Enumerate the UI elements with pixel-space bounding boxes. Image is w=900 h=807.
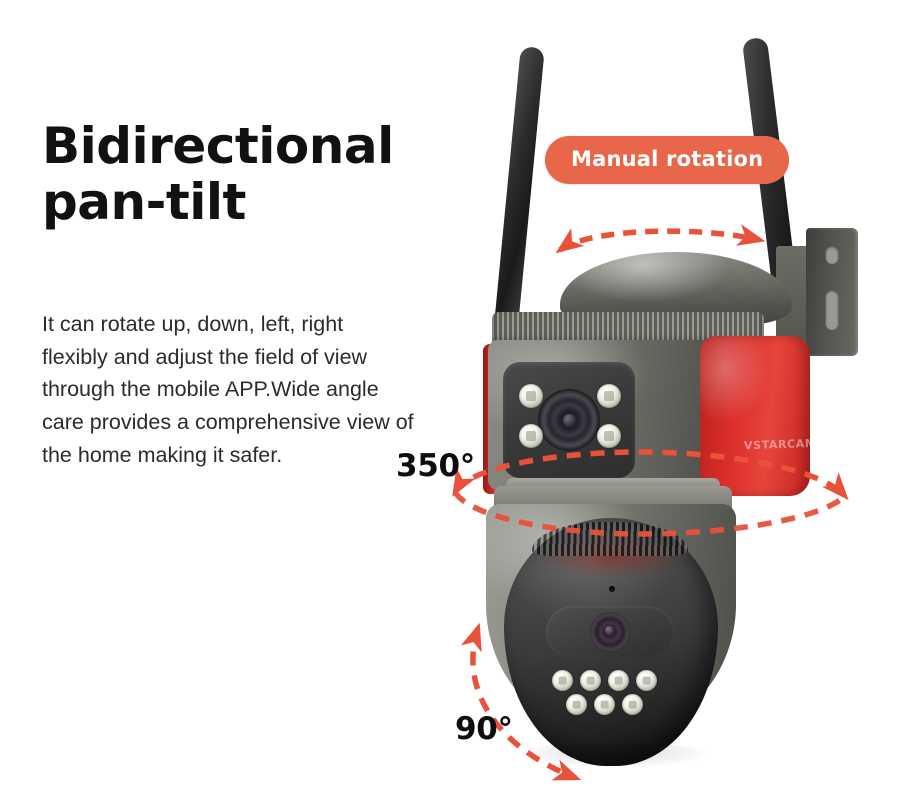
- lower-turret-ball: [504, 518, 718, 766]
- upper-led-3: [597, 384, 621, 408]
- lower-led-1: [552, 670, 573, 691]
- bracket-slot-top: [826, 246, 839, 264]
- lower-led-2: [580, 670, 601, 691]
- upper-lens-panel: [503, 362, 635, 478]
- upper-led-4: [597, 424, 621, 448]
- upper-camera-lens: [538, 389, 600, 451]
- lower-led-7: [622, 694, 643, 715]
- page-title: Bidirectional pan-tilt: [42, 118, 422, 230]
- antenna-left: [494, 46, 545, 327]
- description-paragraph: It can rotate up, down, left, right flex…: [42, 308, 414, 471]
- headline-block: Bidirectional pan-tilt: [42, 118, 422, 230]
- brand-logo: VSTARCAM: [744, 437, 817, 453]
- lower-led-3: [608, 670, 629, 691]
- lower-lens-panel: [546, 606, 674, 658]
- upper-led-1: [519, 384, 543, 408]
- product-feature-banner: VSTARCAM: [0, 0, 900, 807]
- upper-head-red-shell: [700, 336, 810, 496]
- bracket-slot-bottom: [826, 290, 839, 330]
- tilt-angle-label: 90°: [455, 711, 513, 747]
- lower-camera-lens: [590, 612, 630, 652]
- pan-angle-label: 350°: [396, 448, 475, 484]
- wall-mount-bracket: [806, 228, 858, 356]
- lower-led-5: [566, 694, 587, 715]
- lower-led-6: [594, 694, 615, 715]
- upper-led-2: [519, 424, 543, 448]
- ground-shadow: [520, 742, 710, 768]
- microphone-hole: [609, 586, 615, 592]
- lower-led-4: [636, 670, 657, 691]
- manual-rotation-badge: Manual rotation: [545, 136, 789, 184]
